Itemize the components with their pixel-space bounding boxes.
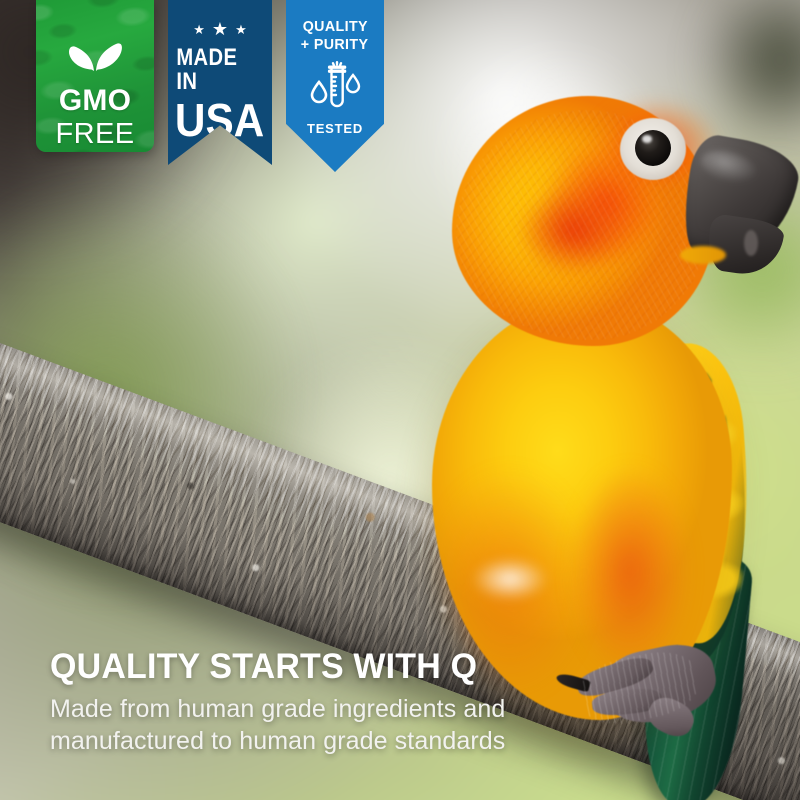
- test-tube-icon: [306, 59, 364, 114]
- badge-gmo-line1: GMO: [59, 86, 131, 116]
- caption-subline-1: Made from human grade ingredients and: [50, 694, 670, 725]
- badge-usa-line1: MADE IN: [176, 46, 263, 94]
- parrot-beak-notch: [744, 230, 758, 256]
- badge-gmo-free[interactable]: GMO FREE: [36, 0, 154, 152]
- parrot-beak-cere: [680, 246, 726, 264]
- parrot-eye: [635, 130, 671, 166]
- badge-quality-line3: TESTED: [307, 122, 363, 135]
- badge-quality-line2: + PURITY: [301, 37, 369, 53]
- leaf-icon: [67, 38, 123, 77]
- badge-gmo-line2: FREE: [56, 120, 135, 149]
- caption-subline-2: manufactured to human grade standards: [50, 726, 670, 757]
- badge-quality-line1: QUALITY: [302, 19, 367, 35]
- caption-headline: QUALITY STARTS WITH Q: [50, 649, 651, 685]
- parrot-eye-glint: [642, 135, 652, 143]
- caption-block: QUALITY STARTS WITH Q Made from human gr…: [50, 649, 670, 756]
- parrot-body-highlight: [470, 556, 550, 602]
- promo-image: GMO FREE ★ ★ ★ MADE IN USA QUALITY + PUR…: [0, 0, 800, 800]
- three-stars-icon: ★ ★ ★: [193, 20, 246, 38]
